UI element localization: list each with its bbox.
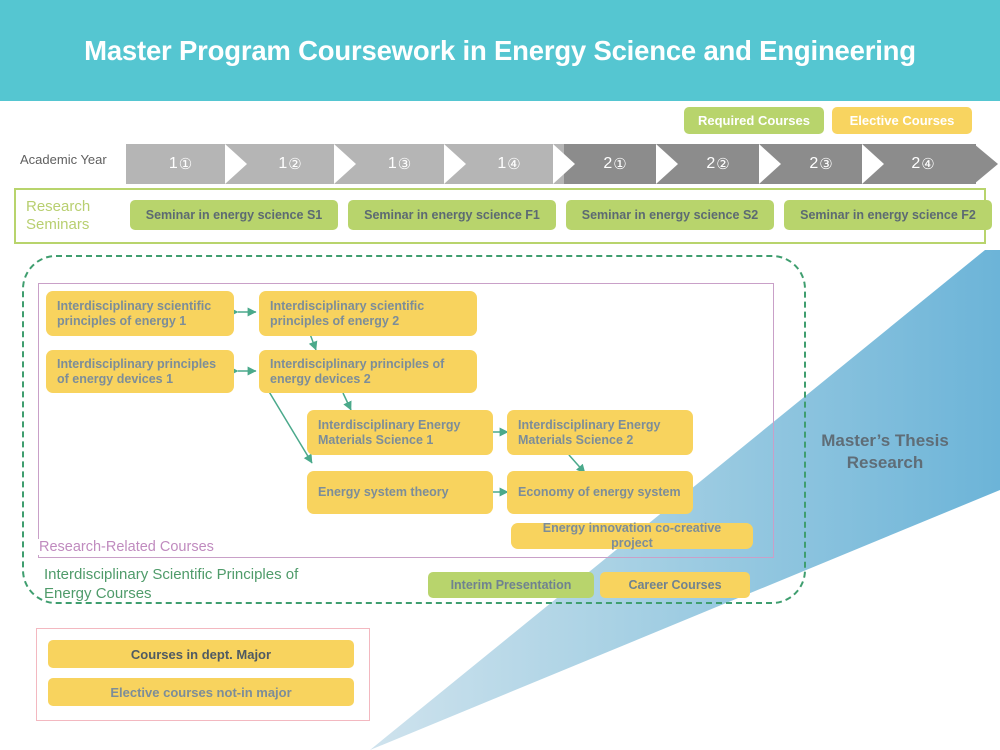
seminar-chip-3[interactable]: Seminar in energy science S2 bbox=[566, 200, 774, 230]
interdisciplinary-caption-line1: Interdisciplinary Scientific Principles … bbox=[44, 565, 404, 584]
legend-required-courses[interactable]: Required Courses bbox=[684, 107, 824, 134]
course-box-ipd1[interactable]: Interdisciplinary principles of energy d… bbox=[46, 350, 234, 393]
academic-year-timeline: 1 ①1 ②1 ③1 ④2 ①2 ②2 ③2 ④ bbox=[126, 144, 1000, 184]
thesis-line1: Master’s Thesis bbox=[806, 430, 964, 452]
timeline-cell-year: 1 bbox=[169, 155, 179, 173]
research-related-courses-caption: Research-Related Courses bbox=[36, 539, 217, 555]
timeline-cell-year: 1 bbox=[388, 155, 398, 173]
courses-in-dept-major-chip[interactable]: Courses in dept. Major bbox=[48, 640, 354, 668]
timeline-cell-year: 2 bbox=[706, 155, 716, 173]
interdisciplinary-courses-caption: Interdisciplinary Scientific Principles … bbox=[44, 565, 404, 603]
timeline-cell-2[interactable]: 1 ② bbox=[236, 144, 345, 184]
course-box-est[interactable]: Energy system theory bbox=[307, 471, 493, 514]
timeline-cell-7[interactable]: 2 ③ bbox=[770, 144, 873, 184]
course-box-ipd2[interactable]: Interdisciplinary principles of energy d… bbox=[259, 350, 477, 393]
timeline-cell-year: 2 bbox=[809, 155, 819, 173]
interdisciplinary-caption-line2: Energy Courses bbox=[44, 584, 404, 603]
seminar-chip-4[interactable]: Seminar in energy science F2 bbox=[784, 200, 992, 230]
legend-elective-courses[interactable]: Elective Courses bbox=[832, 107, 972, 134]
interim-presentation-chip[interactable]: Interim Presentation bbox=[428, 572, 594, 598]
timeline-cell-6[interactable]: 2 ② bbox=[667, 144, 770, 184]
timeline-cell-term: ④ bbox=[507, 155, 521, 173]
legend: Required Courses Elective Courses bbox=[684, 107, 972, 134]
research-seminars-label-line2: Seminars bbox=[26, 216, 122, 234]
timeline-cell-3[interactable]: 1 ③ bbox=[345, 144, 455, 184]
timeline-cell-term: ① bbox=[179, 155, 193, 173]
timeline-cell-year: 1 bbox=[278, 155, 288, 173]
timeline-cell-term: ③ bbox=[819, 155, 833, 173]
timeline-cell-8[interactable]: 2 ④ bbox=[873, 144, 974, 184]
seminar-chip-1[interactable]: Seminar in energy science S1 bbox=[130, 200, 338, 230]
page-header: Master Program Coursework in Energy Scie… bbox=[0, 0, 1000, 101]
timeline-cell-term: ③ bbox=[398, 155, 412, 173]
research-seminars-label-line1: Research bbox=[26, 198, 122, 216]
elective-courses-not-in-major-chip[interactable]: Elective courses not-in major bbox=[48, 678, 354, 706]
timeline-cell-year: 1 bbox=[497, 155, 507, 173]
seminar-chip-2[interactable]: Seminar in energy science F1 bbox=[348, 200, 556, 230]
research-seminars-label: Research Seminars bbox=[26, 198, 122, 234]
timeline-cell-year: 2 bbox=[603, 155, 613, 173]
career-courses-chip[interactable]: Career Courses bbox=[600, 572, 750, 598]
course-box-eicp[interactable]: Energy innovation co-creative project bbox=[511, 523, 753, 549]
timeline-cell-year: 2 bbox=[911, 155, 921, 173]
timeline-cell-5[interactable]: 2 ① bbox=[564, 144, 667, 184]
masters-thesis-research-label: Master’s Thesis Research bbox=[806, 430, 964, 474]
timeline-arrow-tip bbox=[974, 144, 998, 184]
course-box-iems1[interactable]: Interdisciplinary Energy Materials Scien… bbox=[307, 410, 493, 455]
academic-year-label: Academic Year bbox=[20, 152, 107, 167]
diagram-canvas: Master Program Coursework in Energy Scie… bbox=[0, 0, 1000, 750]
research-seminars-list: Seminar in energy science S1Seminar in e… bbox=[130, 200, 992, 230]
timeline-cell-term: ④ bbox=[921, 155, 935, 173]
course-box-iems2[interactable]: Interdisciplinary Energy Materials Scien… bbox=[507, 410, 693, 455]
course-box-isp1[interactable]: Interdisciplinary scientific principles … bbox=[46, 291, 234, 336]
timeline-cell-term: ① bbox=[613, 155, 627, 173]
course-box-isp2[interactable]: Interdisciplinary scientific principles … bbox=[259, 291, 477, 336]
page-title: Master Program Coursework in Energy Scie… bbox=[84, 35, 916, 67]
thesis-line2: Research bbox=[806, 452, 964, 474]
timeline-cell-4[interactable]: 1 ④ bbox=[455, 144, 564, 184]
timeline-cell-term: ② bbox=[716, 155, 730, 173]
course-box-ees[interactable]: Economy of energy system bbox=[507, 471, 693, 514]
timeline-cell-1[interactable]: 1 ① bbox=[126, 144, 236, 184]
timeline-cell-term: ② bbox=[288, 155, 302, 173]
